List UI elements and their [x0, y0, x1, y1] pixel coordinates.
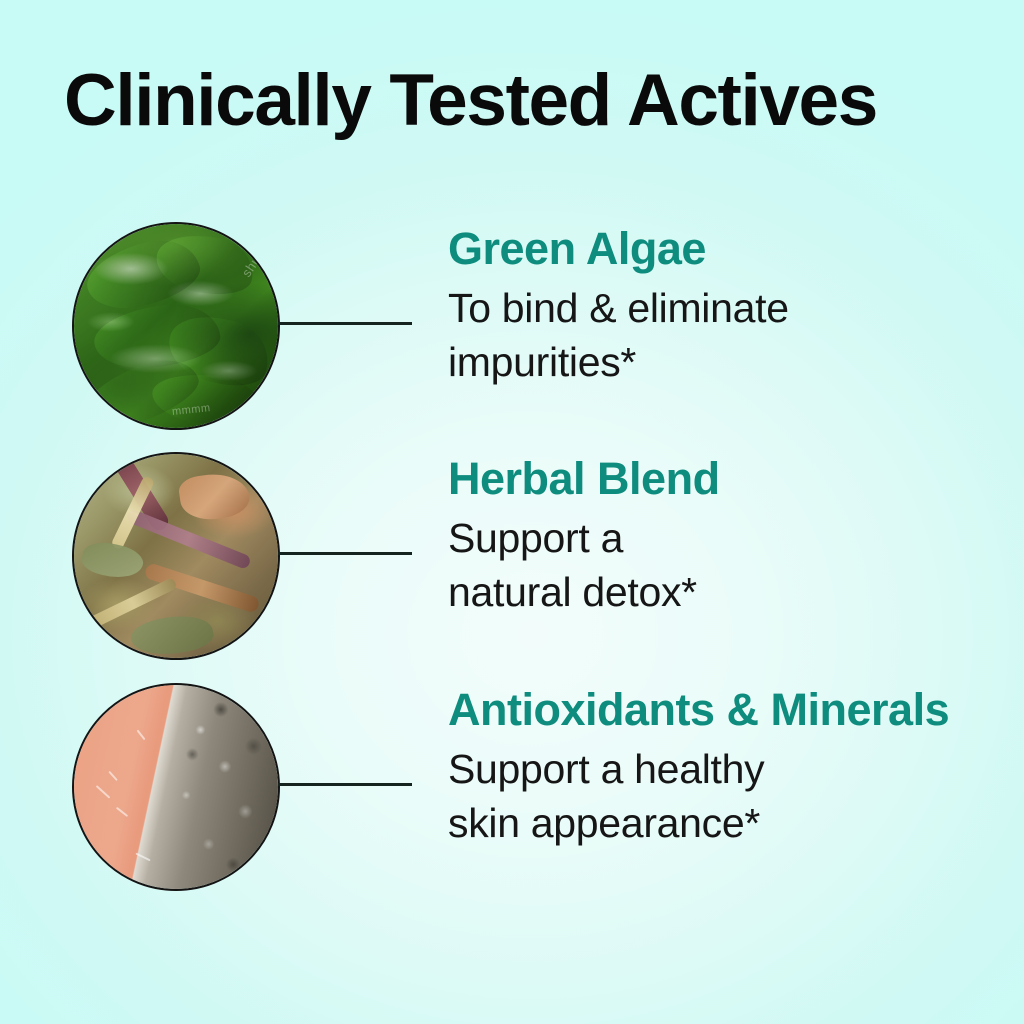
description-line: skin appearance* [448, 797, 968, 850]
ingredient-heading-minerals: Antioxidants & Minerals [448, 685, 968, 735]
infographic-panel: Clinically Tested Actives shut mmmm Gree… [0, 0, 1024, 1024]
herb-leaf-shape [177, 470, 252, 524]
minerals-photo [74, 685, 278, 889]
herb-stem-shape [125, 508, 251, 570]
connector-line-algae [278, 322, 412, 325]
ingredient-image-algae[interactable]: shut mmmm [72, 222, 280, 430]
ingredient-heading-algae: Green Algae [448, 224, 968, 274]
description-line: natural detox* [448, 566, 968, 619]
page-title: Clinically Tested Actives [64, 64, 976, 137]
algae-photo: shut mmmm [74, 224, 278, 428]
heading-line: & Minerals [727, 684, 950, 735]
description-line: impurities* [448, 336, 968, 389]
ingredient-text-minerals: Antioxidants & Minerals Support a health… [448, 683, 968, 850]
ingredient-description-herbs: Support a natural detox* [448, 512, 968, 619]
ingredient-text-herbs: Herbal Blend Support a natural detox* [448, 452, 968, 619]
ingredient-text-algae: Green Algae To bind & eliminate impuriti… [448, 222, 968, 389]
ingredient-image-herbs[interactable] [72, 452, 280, 660]
description-line: To bind & eliminate [448, 282, 968, 335]
herb-leaf-shape [79, 537, 146, 583]
ingredient-heading-herbs: Herbal Blend [448, 454, 968, 504]
mineral-texture-overlay [74, 685, 278, 889]
description-line: Support a [448, 512, 968, 565]
ingredient-description-algae: To bind & eliminate impurities* [448, 282, 968, 389]
heading-line: Antioxidants [448, 684, 715, 735]
connector-line-herbs [278, 552, 412, 555]
description-line: Support a healthy [448, 743, 968, 796]
herbs-photo [74, 454, 278, 658]
connector-line-minerals [278, 783, 412, 786]
ingredient-description-minerals: Support a healthy skin appearance* [448, 743, 968, 850]
herb-leaf-shape [129, 610, 216, 658]
ingredient-image-minerals[interactable] [72, 683, 280, 891]
